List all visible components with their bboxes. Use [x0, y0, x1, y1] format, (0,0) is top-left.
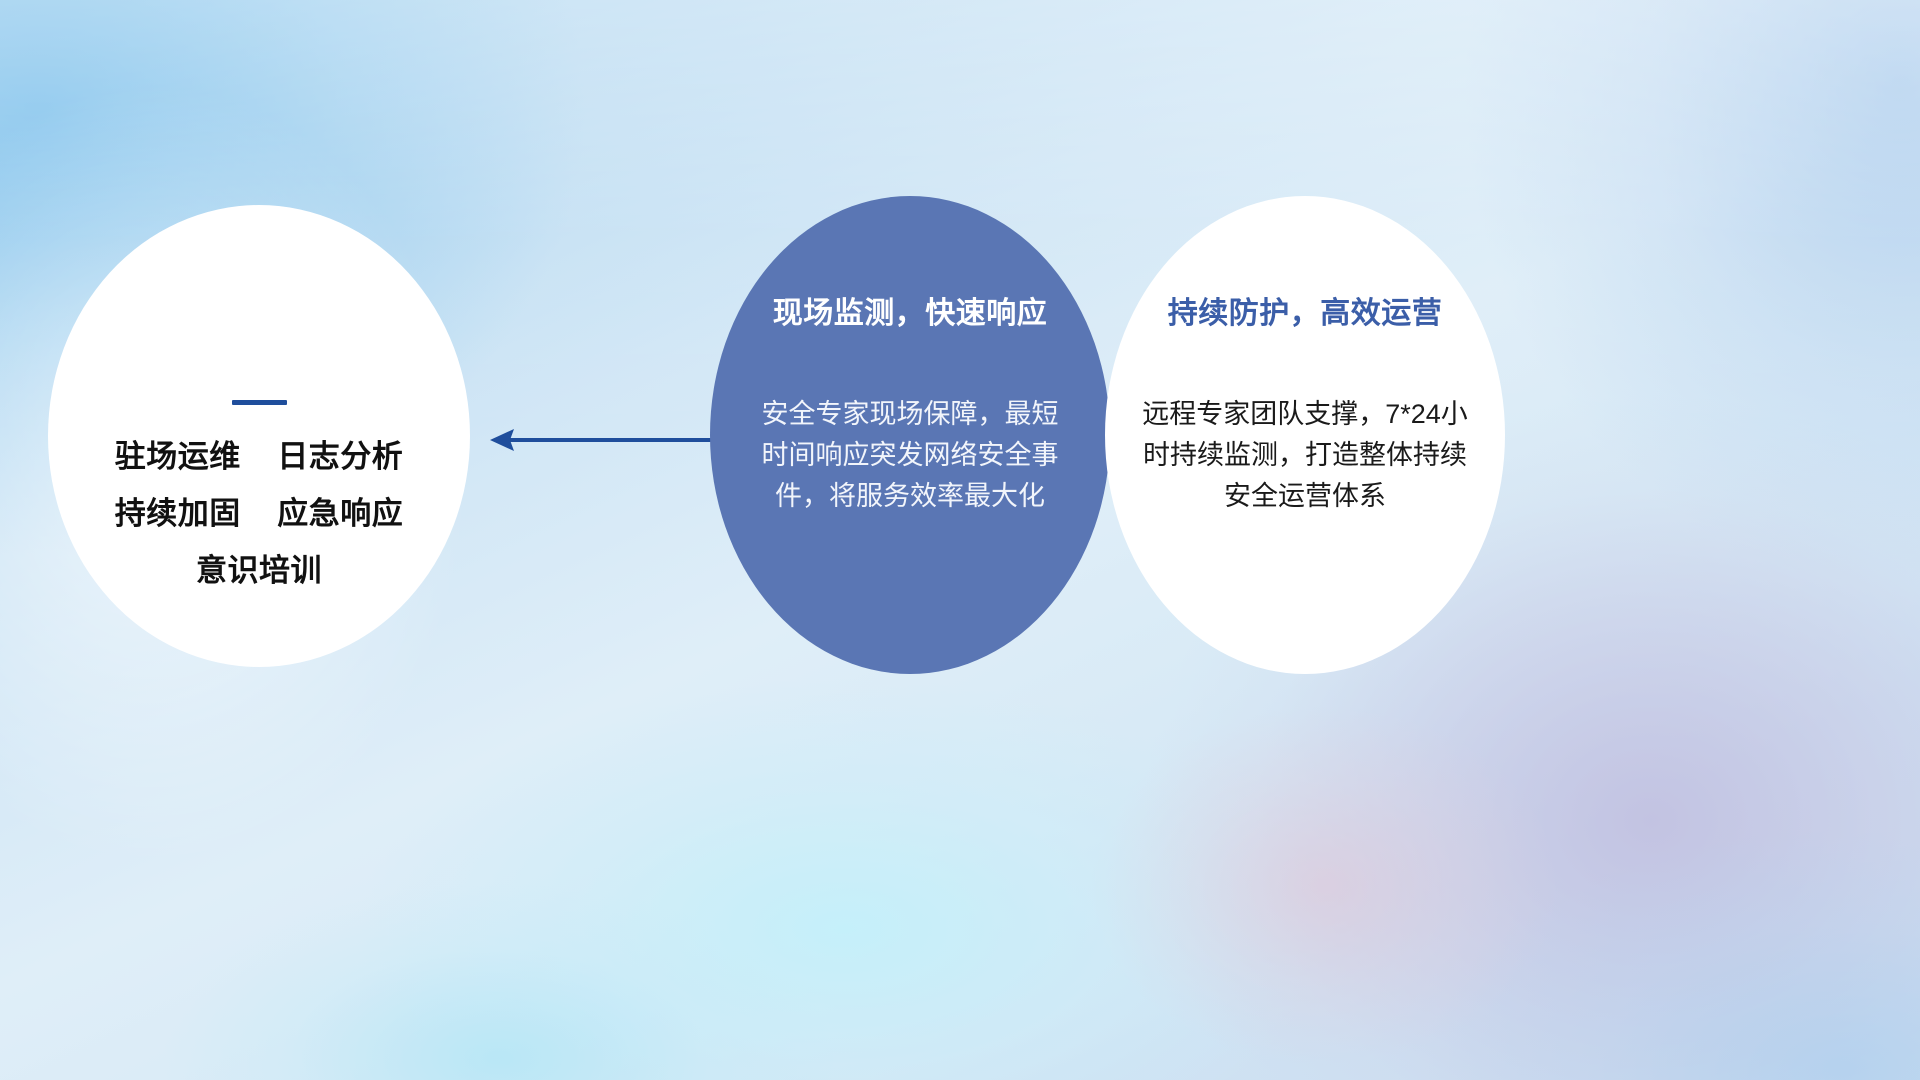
capability-row: 意识培训: [115, 555, 403, 586]
capability-row: 持续加固 应急响应: [115, 498, 403, 529]
slide-canvas: 驻场运维 日志分析 持续加固 应急响应 意识培训 现场监测，快速响应 安全专家现…: [0, 0, 1920, 1080]
remote-title: 持续防护，高效运营: [1168, 288, 1443, 332]
arrow-left-icon: [488, 418, 728, 462]
capability-row: 驻场运维 日志分析: [115, 441, 403, 472]
onsite-body: 安全专家现场保障，最短时间响应突发网络安全事件，将服务效率最大化: [760, 394, 1060, 517]
divider-dash-icon: [232, 400, 287, 405]
service-circle-onsite[interactable]: 现场监测，快速响应 安全专家现场保障，最短时间响应突发网络安全事件，将服务效率最…: [710, 196, 1110, 674]
remote-body: 远程专家团队支撑，7*24小时持续监测，打造整体持续安全运营体系: [1140, 394, 1470, 517]
capability-keyword-list: 驻场运维 日志分析 持续加固 应急响应 意识培训: [115, 441, 403, 586]
capability-circle-left[interactable]: 驻场运维 日志分析 持续加固 应急响应 意识培训: [48, 205, 470, 667]
service-circle-remote[interactable]: 持续防护，高效运营 远程专家团队支撑，7*24小时持续监测，打造整体持续安全运营…: [1105, 196, 1505, 674]
onsite-title: 现场监测，快速响应: [773, 288, 1048, 332]
